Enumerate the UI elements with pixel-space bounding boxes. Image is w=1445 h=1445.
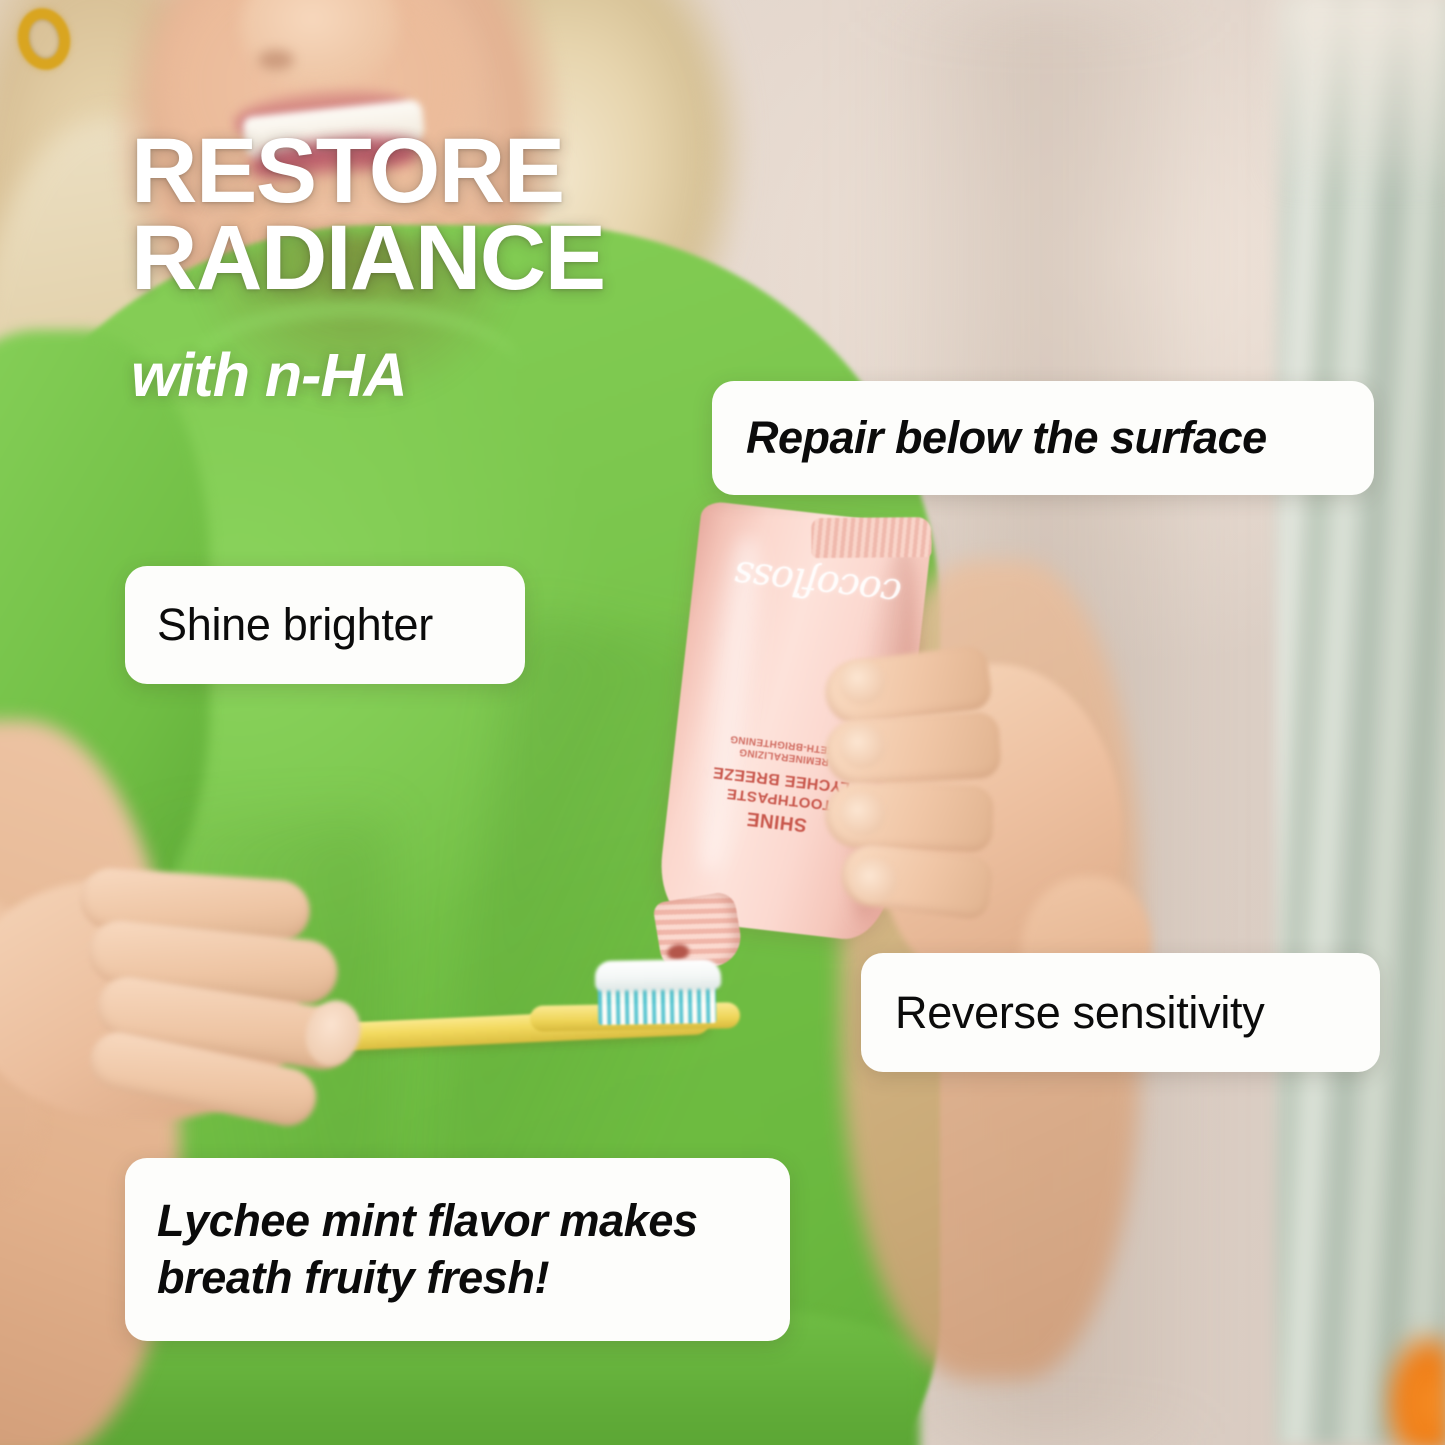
callout-repair-label: Repair below the surface [746, 412, 1340, 464]
tube-crimp-seal [811, 517, 931, 558]
callout-repair-below-the-surface: Repair below the surface [712, 381, 1374, 495]
headline-line-2: RADIANCE [131, 215, 605, 302]
callout-lychee-line-2: breath fruity fresh! [157, 1250, 758, 1306]
right-hand [835, 636, 1135, 996]
toothpaste-dollop [595, 959, 722, 991]
callout-lychee-line-1: Lychee mint flavor makes [157, 1193, 758, 1249]
nostril [258, 50, 294, 70]
right-fingernail-2 [839, 724, 885, 768]
right-fingernail-1 [839, 660, 885, 704]
left-hand [0, 880, 390, 1180]
hanging-towel-top [1276, 0, 1445, 180]
right-fingernail-4 [851, 858, 897, 902]
headline: RESTORE RADIANCE [131, 128, 605, 303]
right-fingernail-3 [839, 792, 885, 836]
orange-towel-accent [1383, 1331, 1445, 1445]
promo-image: cocofloss SHINE TOOTHPASTE LYCHEE BREEZE… [0, 0, 1445, 1445]
subheadline: with n-HA [131, 340, 407, 410]
callout-shine-brighter: Shine brighter [125, 566, 525, 684]
callout-reverse-sensitivity: Reverse sensitivity [861, 953, 1380, 1072]
callout-reverse-label: Reverse sensitivity [895, 987, 1346, 1039]
hanging-towel [1276, 0, 1445, 1445]
callout-shine-label: Shine brighter [157, 599, 493, 651]
callout-lychee-mint-flavor: Lychee mint flavor makes breath fruity f… [125, 1158, 790, 1341]
